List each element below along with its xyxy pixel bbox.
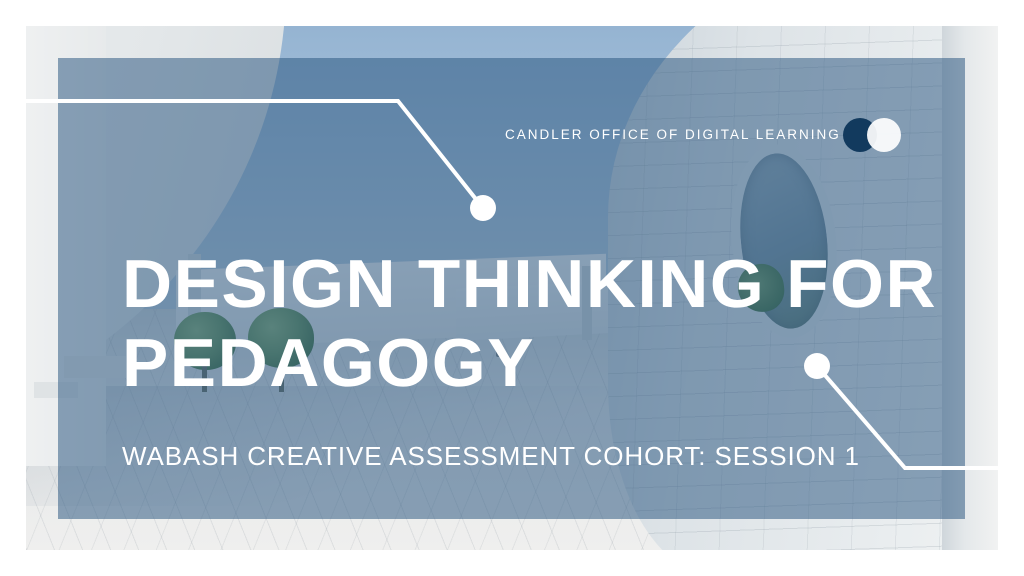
presentation-slide: CANDLER OFFICE OF DIGITAL LEARNING DESIG… (0, 0, 1024, 576)
brand-name: CANDLER OFFICE OF DIGITAL LEARNING (505, 128, 841, 142)
slide-title: DESIGN THINKING FOR PEDAGOGY (122, 252, 922, 397)
title-line-1: DESIGN THINKING FOR (122, 252, 938, 317)
logo-light-circle (867, 118, 901, 152)
two-overlapping-circles-logo-icon (843, 118, 905, 152)
title-line-2: PEDAGOGY (122, 331, 938, 396)
brand-row: CANDLER OFFICE OF DIGITAL LEARNING (505, 118, 905, 152)
slide-subtitle: WABASH CREATIVE ASSESSMENT COHORT: SESSI… (122, 442, 860, 471)
